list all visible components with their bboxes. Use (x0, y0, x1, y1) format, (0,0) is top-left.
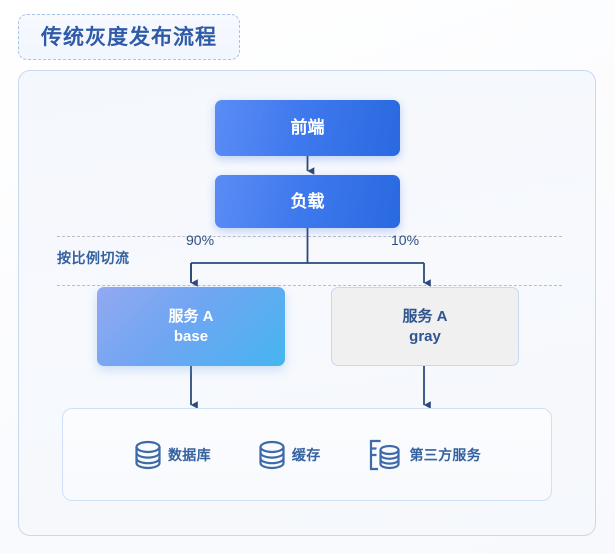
infra-item-third-party[interactable]: 第三方服务 (367, 438, 482, 472)
node-service-a-base[interactable]: 服务 A base (97, 287, 285, 366)
node-frontend-label: 前端 (291, 117, 325, 139)
traffic-percent-base: 90% (186, 232, 214, 248)
node-service-a-gray-line1: 服务 A (402, 307, 447, 326)
node-loadbalancer-label: 负载 (291, 191, 325, 213)
infra-item-third-party-label: 第三方服务 (410, 445, 482, 465)
cache-icon (257, 439, 287, 471)
traffic-percent-gray: 10% (391, 232, 419, 248)
database-icon (133, 439, 163, 471)
node-service-a-base-line2: base (174, 327, 208, 346)
node-service-a-gray[interactable]: 服务 A gray (331, 287, 519, 366)
split-elbow (191, 228, 424, 281)
node-frontend[interactable]: 前端 (215, 100, 400, 156)
infra-item-database[interactable]: 数据库 (133, 439, 211, 471)
infra-item-database-label: 数据库 (168, 445, 211, 465)
node-service-a-gray-line2: gray (409, 327, 441, 346)
third-party-service-icon (367, 438, 405, 472)
node-loadbalancer[interactable]: 负载 (215, 175, 400, 228)
infra-item-cache[interactable]: 缓存 (257, 439, 321, 471)
infrastructure-container: 数据库 缓存 (62, 408, 552, 501)
diagram-canvas: 传统灰度发布流程 按比例切流 90% 10% 前端 负载 服务 A base (0, 0, 615, 554)
node-service-a-base-line1: 服务 A (168, 307, 213, 326)
infra-item-cache-label: 缓存 (292, 445, 321, 465)
